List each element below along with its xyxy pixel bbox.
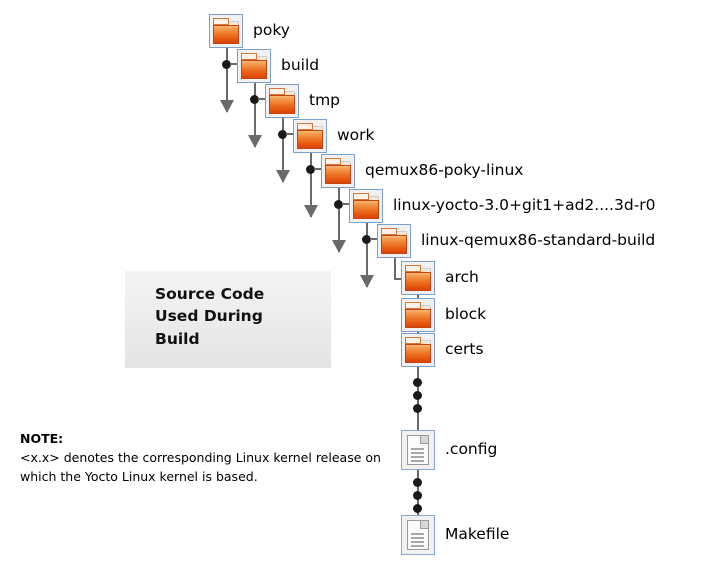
tree-node-label: linux-qemux86-standard-build (421, 233, 655, 249)
tree-node-label: linux-yocto-3.0+git1+ad2....3d-r0 (393, 198, 656, 214)
connector-arrow-linux-yocto (360, 275, 374, 288)
tree-node-arch[interactable]: arch (401, 261, 479, 295)
tree-node-label: build (281, 58, 319, 74)
tree-node-label: tmp (309, 93, 340, 109)
tree-node-label: .config (445, 442, 497, 458)
tree-node-tmp[interactable]: tmp (265, 84, 340, 118)
ellipsis-dot-3 (413, 404, 422, 413)
tree-node-config[interactable]: .config (401, 430, 497, 470)
tree-node-makefile[interactable]: Makefile (401, 515, 509, 555)
ellipsis-dot-1 (413, 378, 422, 387)
folder-icon (349, 189, 383, 223)
tree-node-poky[interactable]: poky (209, 14, 290, 48)
tree-node-qemux86-poky-linux[interactable]: qemux86-poky-linux (321, 154, 523, 188)
file-icon (401, 430, 435, 470)
tree-node-label: Makefile (445, 527, 509, 543)
tree-node-certs[interactable]: certs (401, 333, 484, 367)
folder-icon (237, 49, 271, 83)
tree-node-label: poky (253, 23, 290, 39)
tree-node-linux-yocto[interactable]: linux-yocto-3.0+git1+ad2....3d-r0 (349, 189, 656, 223)
folder-icon (209, 14, 243, 48)
tree-node-build[interactable]: build (237, 49, 319, 83)
tree-node-work[interactable]: work (293, 119, 375, 153)
folder-icon (321, 154, 355, 188)
tree-node-label: work (337, 128, 375, 144)
callout-text: Source Code Used During Build (155, 283, 264, 350)
directory-tree-diagram: poky build tmp work qemux86-poky-linux l… (0, 0, 705, 581)
connector-arrow-build (248, 135, 262, 148)
folder-icon (401, 298, 435, 332)
file-icon (401, 515, 435, 555)
connector-vertical-standard-build (394, 258, 396, 280)
tree-node-block[interactable]: block (401, 298, 486, 332)
folder-icon (401, 261, 435, 295)
tree-node-label: qemux86-poky-linux (365, 163, 523, 179)
tree-node-label: certs (445, 342, 484, 358)
note-block: NOTE: <x.x> denotes the corresponding Li… (20, 430, 390, 486)
note-body: <x.x> denotes the corresponding Linux ke… (20, 449, 390, 487)
connector-arrow-poky (220, 100, 234, 113)
folder-icon (401, 333, 435, 367)
tree-node-linux-qemux86-standard-build[interactable]: linux-qemux86-standard-build (377, 224, 655, 258)
folder-icon (293, 119, 327, 153)
ellipsis-dot-2 (413, 391, 422, 400)
source-code-callout: Source Code Used During Build (125, 271, 331, 368)
connector-arrow-qemux86 (332, 240, 346, 253)
note-title: NOTE: (20, 430, 390, 449)
tree-node-label: arch (445, 270, 479, 286)
folder-icon (377, 224, 411, 258)
connector-arrow-work (304, 205, 318, 218)
ellipsis-dot-5 (413, 491, 422, 500)
folder-icon (265, 84, 299, 118)
ellipsis-dot-6 (413, 504, 422, 513)
connector-arrow-tmp (276, 170, 290, 183)
ellipsis-dot-4 (413, 478, 422, 487)
tree-node-label: block (445, 307, 486, 323)
